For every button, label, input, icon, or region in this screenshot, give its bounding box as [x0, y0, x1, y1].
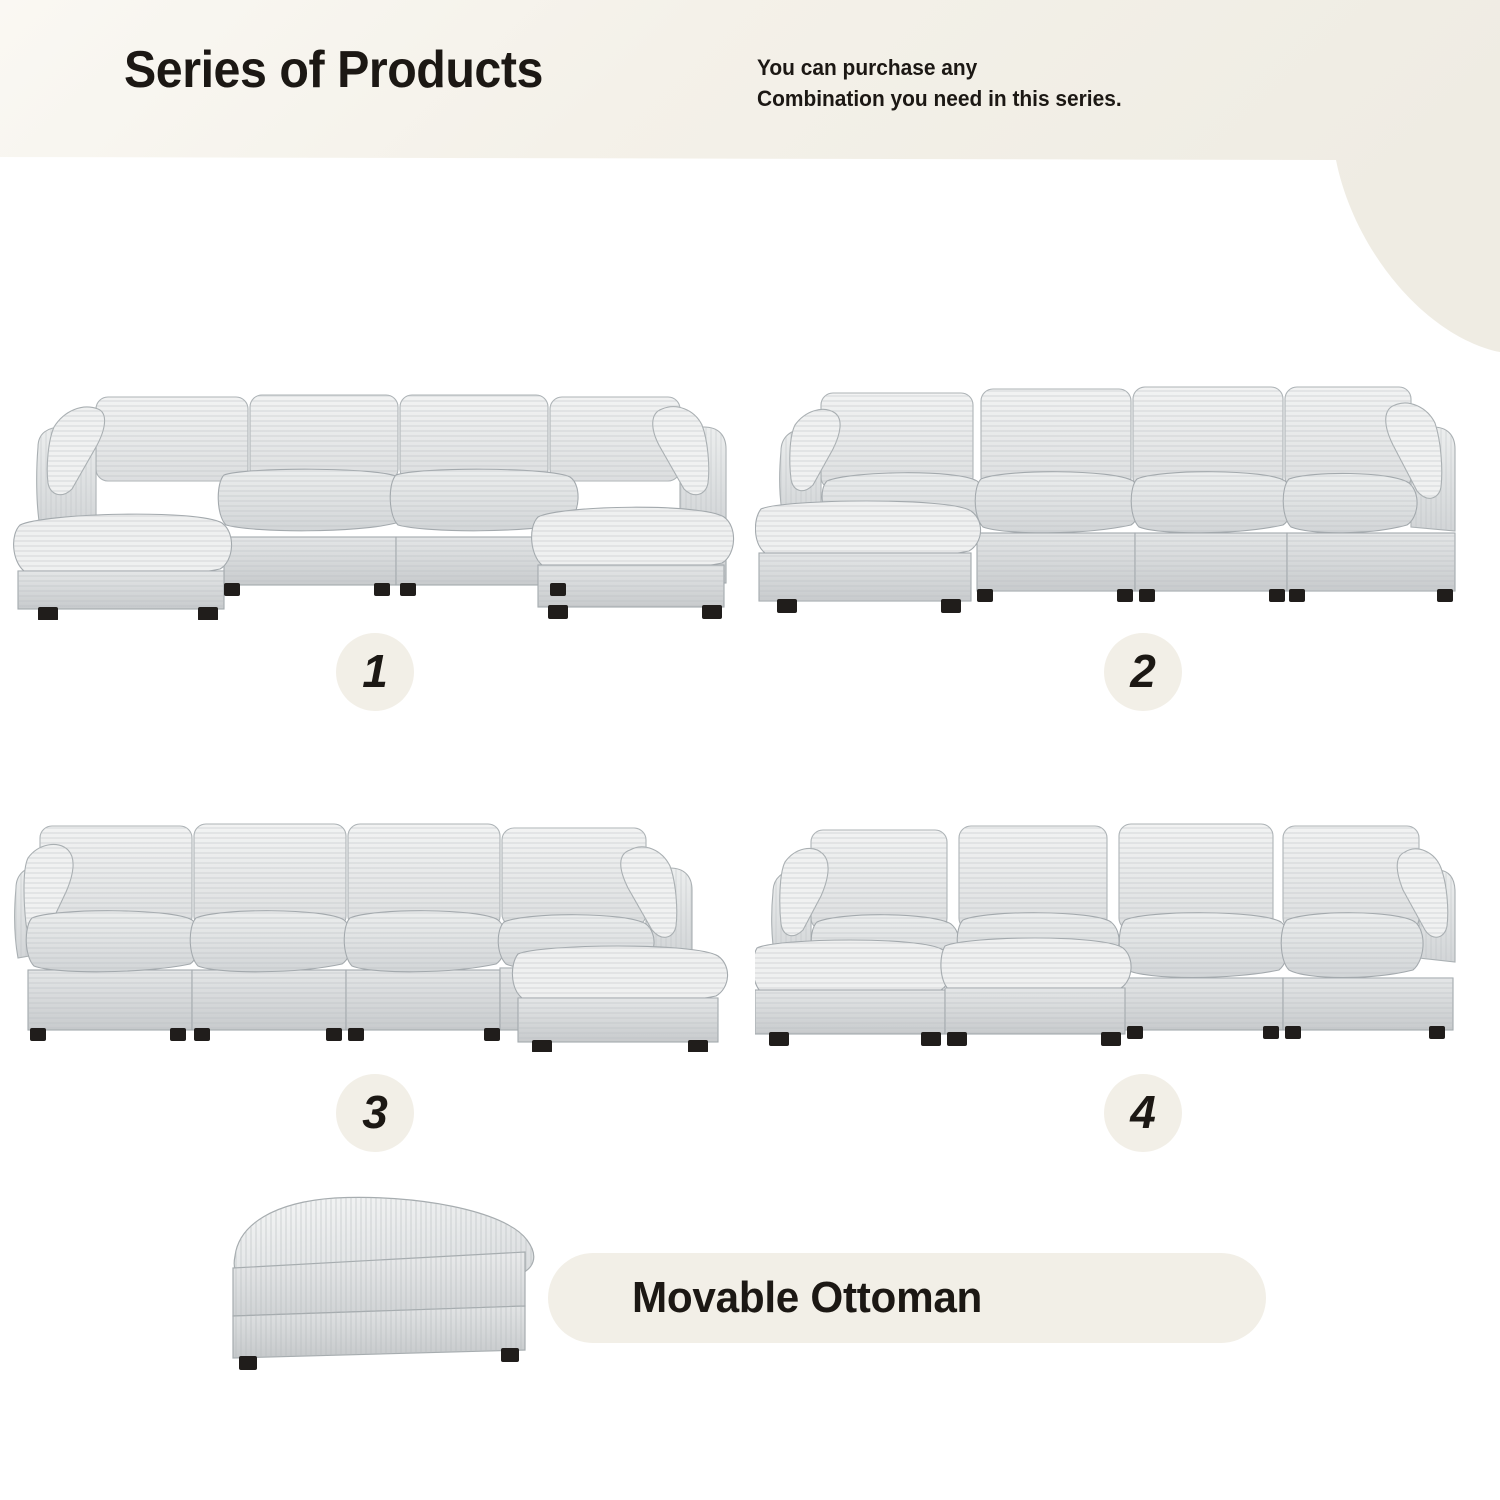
page-title: Series of Products: [124, 40, 543, 100]
left-arm: [37, 407, 105, 527]
config-number-2: 2: [1130, 648, 1156, 694]
seat-module: [26, 911, 200, 1030]
seat-module: [975, 472, 1141, 591]
config-number-badge-4: 4: [1104, 1074, 1182, 1152]
ottoman-module-front-left: [755, 501, 980, 601]
product-configuration-2: [755, 375, 1465, 620]
movable-ottoman-product: [205, 1190, 565, 1375]
header-subtitle: You can purchase any Combination you nee…: [757, 52, 1122, 114]
header-subtitle-line-1: You can purchase any: [757, 52, 1122, 83]
product-configuration-3: [10, 812, 740, 1052]
seat-module: [218, 469, 406, 585]
config-number-badge-1: 1: [336, 633, 414, 711]
header-subtitle-line-2: Combination you need in this series.: [757, 83, 1122, 114]
movable-ottoman-callout-bar: Movable Ottoman: [548, 1253, 1266, 1343]
seat-module: [1119, 913, 1289, 1030]
config-number-3: 3: [362, 1089, 388, 1135]
config-number-1: 1: [362, 648, 388, 694]
ottoman-module-left: [14, 514, 232, 609]
config-number-badge-2: 2: [1104, 633, 1182, 711]
ottoman-module-front-2: [941, 938, 1131, 1034]
config-number-badge-3: 3: [336, 1074, 414, 1152]
movable-ottoman-label: Movable Ottoman: [632, 1273, 982, 1323]
back-cushion-group: [96, 395, 680, 481]
product-configuration-4: [755, 812, 1465, 1047]
seat-module: [1131, 472, 1293, 591]
ottoman-module-front-1: [755, 940, 951, 1034]
product-configuration-1: [10, 375, 740, 620]
config-number-4: 4: [1130, 1089, 1156, 1135]
ottoman-module-front-right: [512, 946, 727, 1042]
seat-module: [190, 911, 352, 1030]
seat-module: [344, 911, 506, 1030]
